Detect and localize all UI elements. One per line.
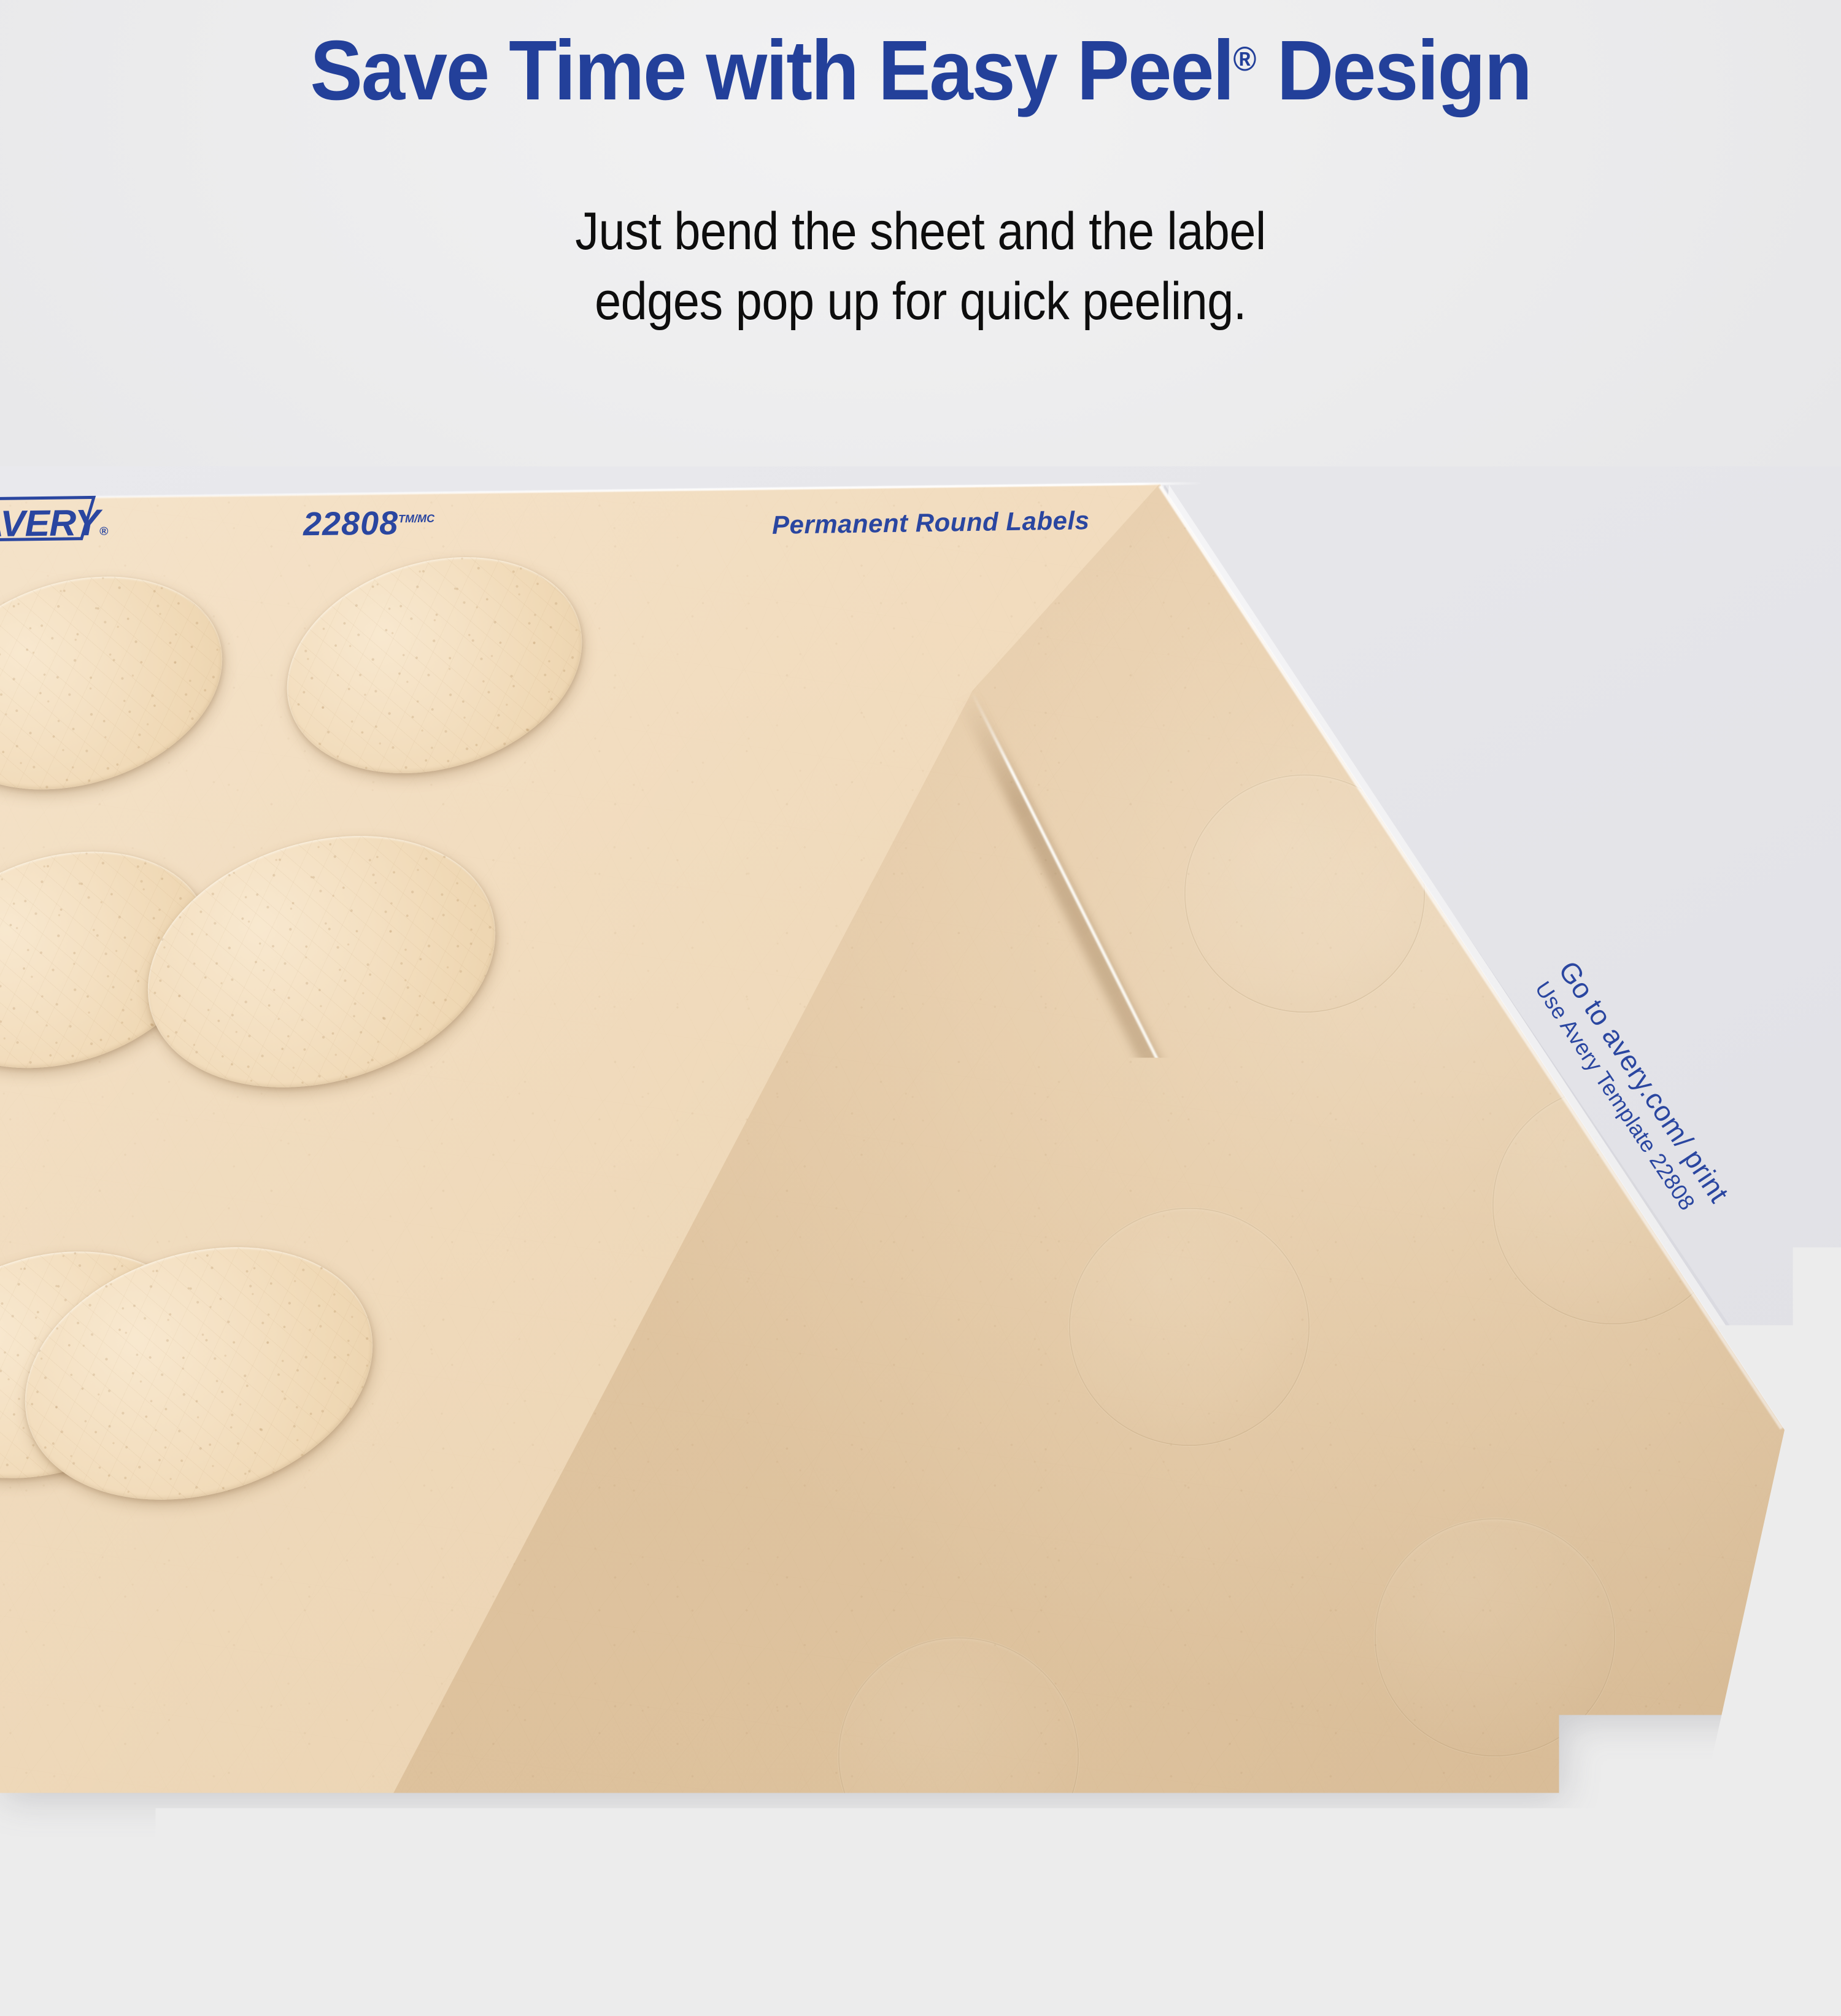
sheet-product-name: Permanent Round Labels xyxy=(772,506,1090,540)
sheet-product-number: 22808TM/MC xyxy=(303,504,435,544)
sheet-template-instructions-line-1: Go to avery.com/ print xyxy=(1552,955,1736,1208)
avery-registered-mark-icon: ® xyxy=(99,525,108,538)
trademark-mark-icon: TM/MC xyxy=(398,512,434,525)
sheet-product-number-value: 22808 xyxy=(303,504,399,543)
avery-brand-logo: AVERY® xyxy=(0,501,107,546)
avery-logo-wordmark: AVERY® xyxy=(0,501,108,546)
sheet-printed-markings: AVERY® 22808TM/MC Permanent Round Labels… xyxy=(0,0,1841,1841)
sheet-template-instructions: Go to avery.com/ print Use Avery Templat… xyxy=(1529,955,1736,1224)
avery-logo-text: AVERY xyxy=(0,502,99,544)
product-photo-label-sheet: AVERY® 22808TM/MC Permanent Round Labels… xyxy=(0,0,1841,1841)
